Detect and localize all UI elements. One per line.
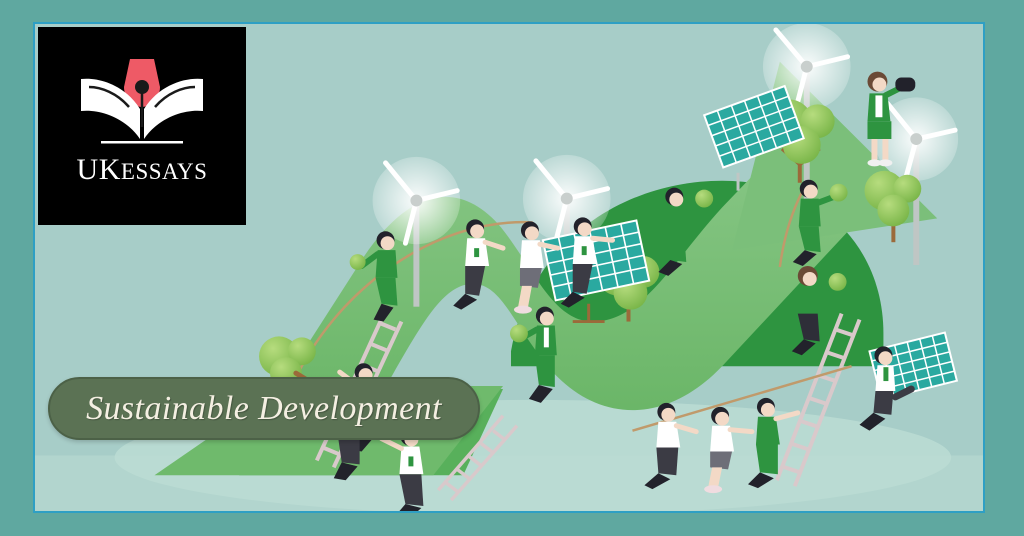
ukessays-logo[interactable]: UKESSAYS	[38, 27, 246, 225]
logo-wordmark-caps: ESSAYS	[121, 159, 208, 184]
sapling-icon	[829, 273, 847, 291]
sapling-icon	[830, 184, 848, 202]
logo-wordmark-lead: UK	[77, 153, 121, 186]
title-pill: Sustainable Development	[48, 377, 480, 440]
logo-wordmark: UKESSAYS	[38, 155, 246, 185]
sapling-icon	[510, 325, 528, 343]
logo-mark	[77, 53, 207, 149]
binoculars-icon	[895, 78, 915, 92]
page-title: Sustainable Development	[86, 390, 442, 428]
sapling-icon	[695, 190, 713, 208]
sapling-icon	[350, 254, 366, 270]
banner: Sustainable Development UKESSAYS	[0, 0, 1024, 536]
